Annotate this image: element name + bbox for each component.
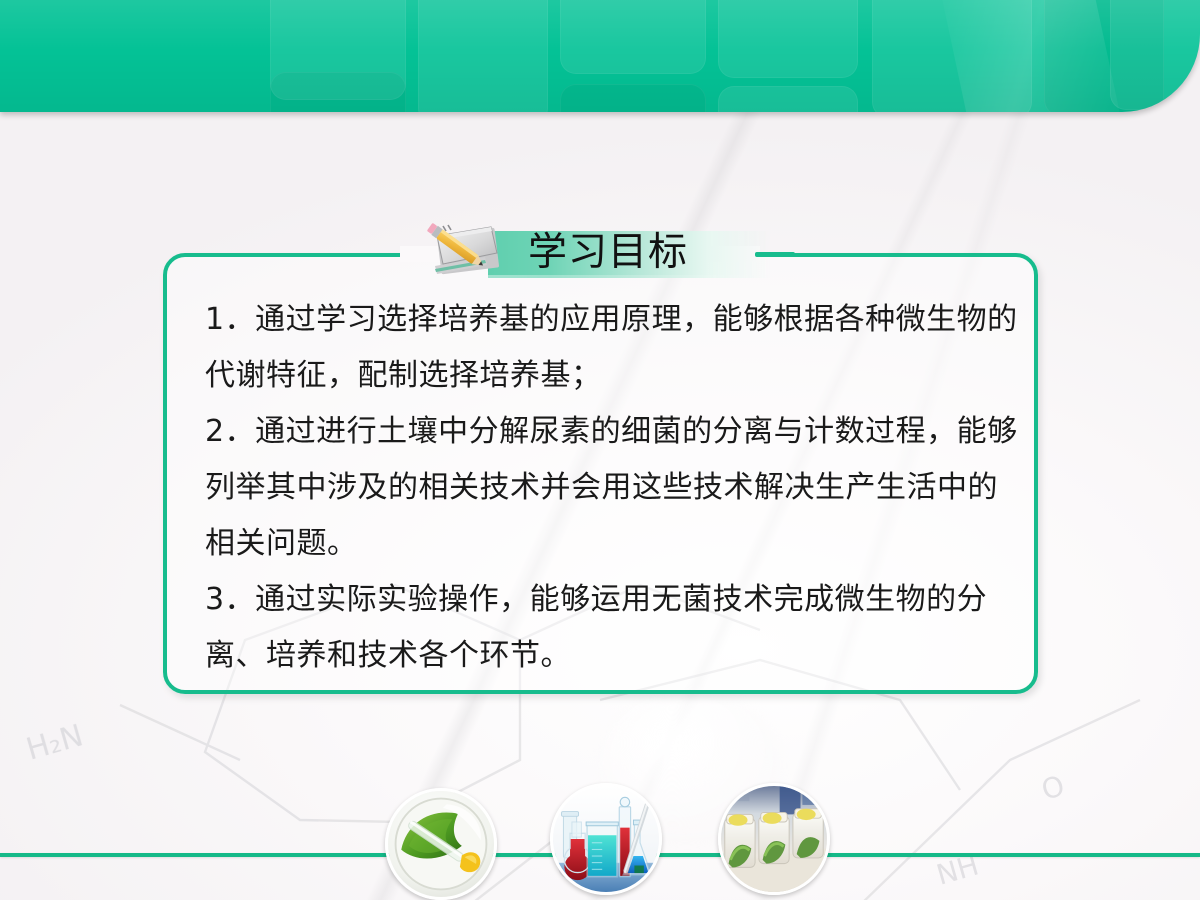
header-tile: [418, 0, 548, 112]
header-tile: [718, 0, 858, 78]
svg-text:H₂N: H₂N: [23, 718, 87, 767]
lab-glassware-photo: [550, 783, 662, 895]
header-tile: [560, 0, 706, 74]
header-tile: [270, 0, 406, 100]
header-sheen: [938, 0, 1133, 112]
slide-canvas: H₂N O NH O: [0, 0, 1200, 900]
svg-text:O: O: [1038, 769, 1068, 807]
header-tile: [1110, 0, 1200, 110]
notebook-pencil-icon: [425, 219, 503, 281]
header-tile: [872, 0, 1032, 112]
header-band: [0, 0, 1200, 112]
plant-tissue-culture-photo: [718, 783, 830, 895]
objectives-text: 1．通过学习选择培养基的应用原理，能够根据各种微生物的代谢特征，配制选择培养基；…: [205, 292, 1025, 684]
section-title-text: 学习目标: [528, 228, 688, 278]
header-tile: [560, 84, 706, 112]
header-tile: [718, 86, 858, 112]
petri-dish-culture-photo: [385, 788, 497, 900]
header-shape: [0, 0, 1200, 112]
section-title: 学习目标: [425, 219, 775, 281]
header-tile: [270, 72, 406, 112]
header-tile: [1044, 0, 1164, 112]
title-right-dash: [755, 252, 795, 257]
